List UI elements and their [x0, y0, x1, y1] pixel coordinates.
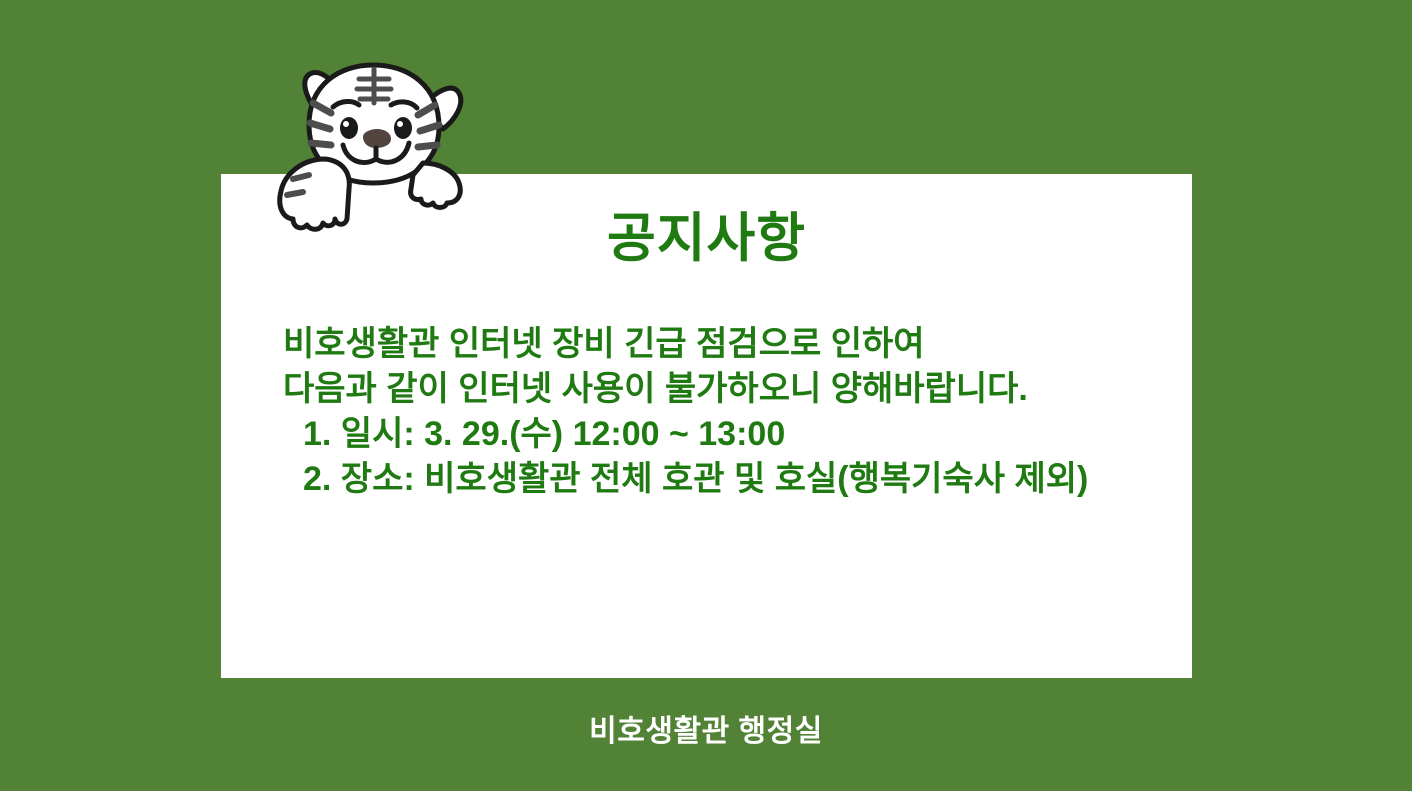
notice-body: 비호생활관 인터넷 장비 긴급 점검으로 인하여 다음과 같이 인터넷 사용이 … — [283, 322, 1183, 502]
notice-slide: 공지사항 비호생활관 인터넷 장비 긴급 점검으로 인하여 다음과 같이 인터넷… — [0, 0, 1412, 791]
notice-line-2: 다음과 같이 인터넷 사용이 불가하오니 양해바랍니다. — [283, 367, 1183, 412]
notice-item-2: 2. 장소: 비호생활관 전체 호관 및 호실(행복기숙사 제외) — [283, 457, 1183, 502]
footer-organization-label: 비호생활관 행정실 — [0, 706, 1412, 750]
white-tiger-mascot-icon — [263, 55, 478, 230]
notice-item-1: 1. 일시: 3. 29.(수) 12:00 ~ 13:00 — [283, 412, 1183, 457]
notice-card: 공지사항 비호생활관 인터넷 장비 긴급 점검으로 인하여 다음과 같이 인터넷… — [221, 174, 1192, 678]
notice-line-1: 비호생활관 인터넷 장비 긴급 점검으로 인하여 — [283, 322, 1183, 367]
